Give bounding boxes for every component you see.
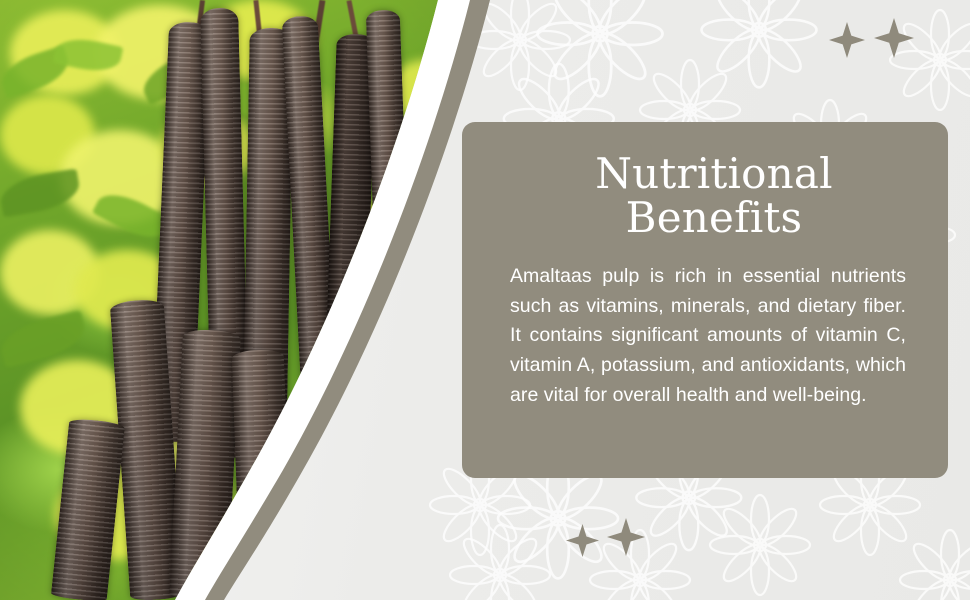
page-title: Nutritional Benefits [510,152,926,240]
poster-canvas: Nutritional Benefits Amaltaas pulp is ri… [0,0,970,600]
body-paragraph: Amaltaas pulp is rich in essential nutri… [510,262,926,410]
content-card: Nutritional Benefits Amaltaas pulp is ri… [462,122,948,478]
